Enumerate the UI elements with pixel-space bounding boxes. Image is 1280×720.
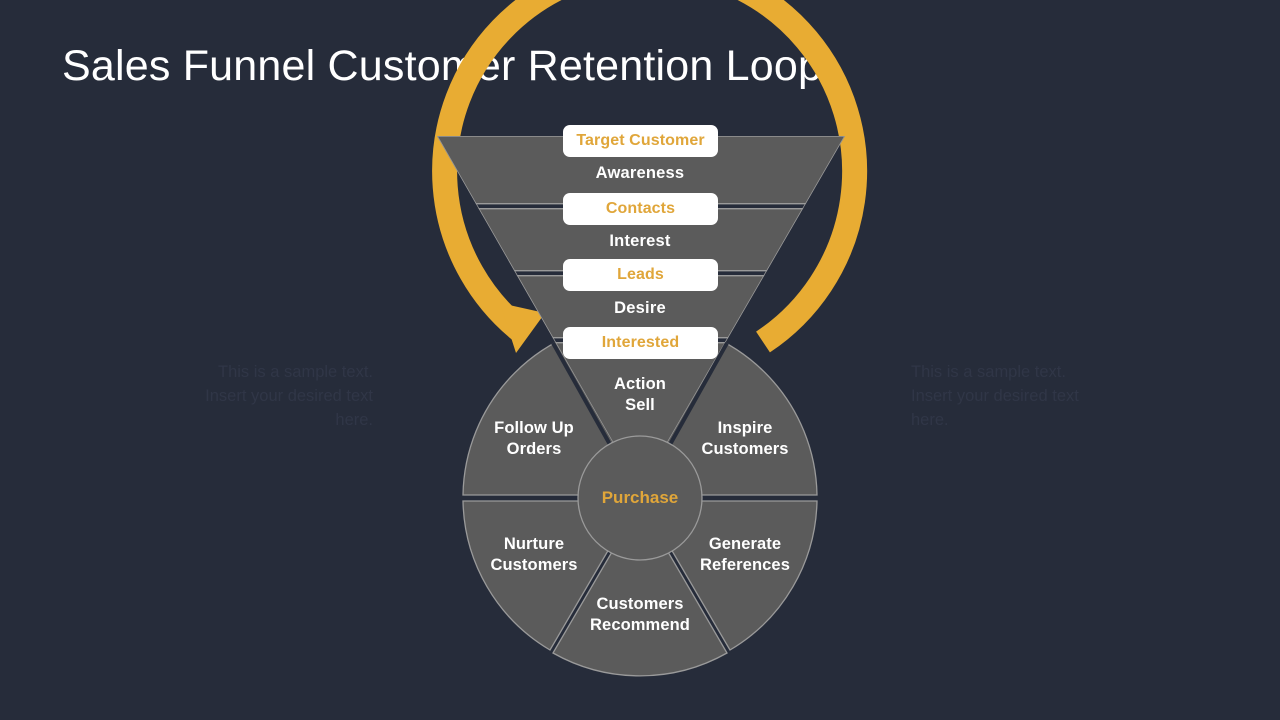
- wheel-label-nurture-customers: Nurture Customers: [449, 534, 619, 576]
- wheel-label-inspire-customers: Inspire Customers: [660, 418, 830, 460]
- wheel-label-nurture-customers-line1: Nurture: [449, 534, 619, 555]
- funnel-stage-interest: Interest: [540, 232, 740, 251]
- wheel-label-customers-recommend-line1: Customers: [555, 594, 725, 615]
- wheel-label-inspire-customers-line1: Inspire: [660, 418, 830, 439]
- wheel-label-customers-recommend-line2: Recommend: [555, 615, 725, 636]
- wheel-label-action-sell-line2: Sell: [555, 395, 725, 416]
- funnel-pill-interested[interactable]: Interested: [563, 327, 718, 359]
- wheel-hub-label: Purchase: [560, 488, 720, 508]
- slide-canvas: Sales Funnel Customer Retention Loop Thi…: [0, 0, 1280, 720]
- funnel-stage-awareness: Awareness: [540, 164, 740, 183]
- wheel-label-action-sell: Action Sell: [555, 374, 725, 416]
- wheel-label-inspire-customers-line2: Customers: [660, 439, 830, 460]
- wheel-label-generate-references-line2: References: [660, 555, 830, 576]
- funnel-pill-contacts[interactable]: Contacts: [563, 193, 718, 225]
- wheel-label-nurture-customers-line2: Customers: [449, 555, 619, 576]
- wheel-label-generate-references: Generate References: [660, 534, 830, 576]
- wheel-label-action-sell-line1: Action: [555, 374, 725, 395]
- funnel-stage-desire: Desire: [540, 299, 740, 318]
- wheel-label-follow-up-orders: Follow Up Orders: [449, 418, 619, 460]
- wheel-label-customers-recommend: Customers Recommend: [555, 594, 725, 636]
- funnel-pill-target-customer[interactable]: Target Customer: [563, 125, 718, 157]
- wheel-label-follow-up-orders-line1: Follow Up: [449, 418, 619, 439]
- wheel-label-generate-references-line1: Generate: [660, 534, 830, 555]
- funnel-pill-leads[interactable]: Leads: [563, 259, 718, 291]
- wheel-label-follow-up-orders-line2: Orders: [449, 439, 619, 460]
